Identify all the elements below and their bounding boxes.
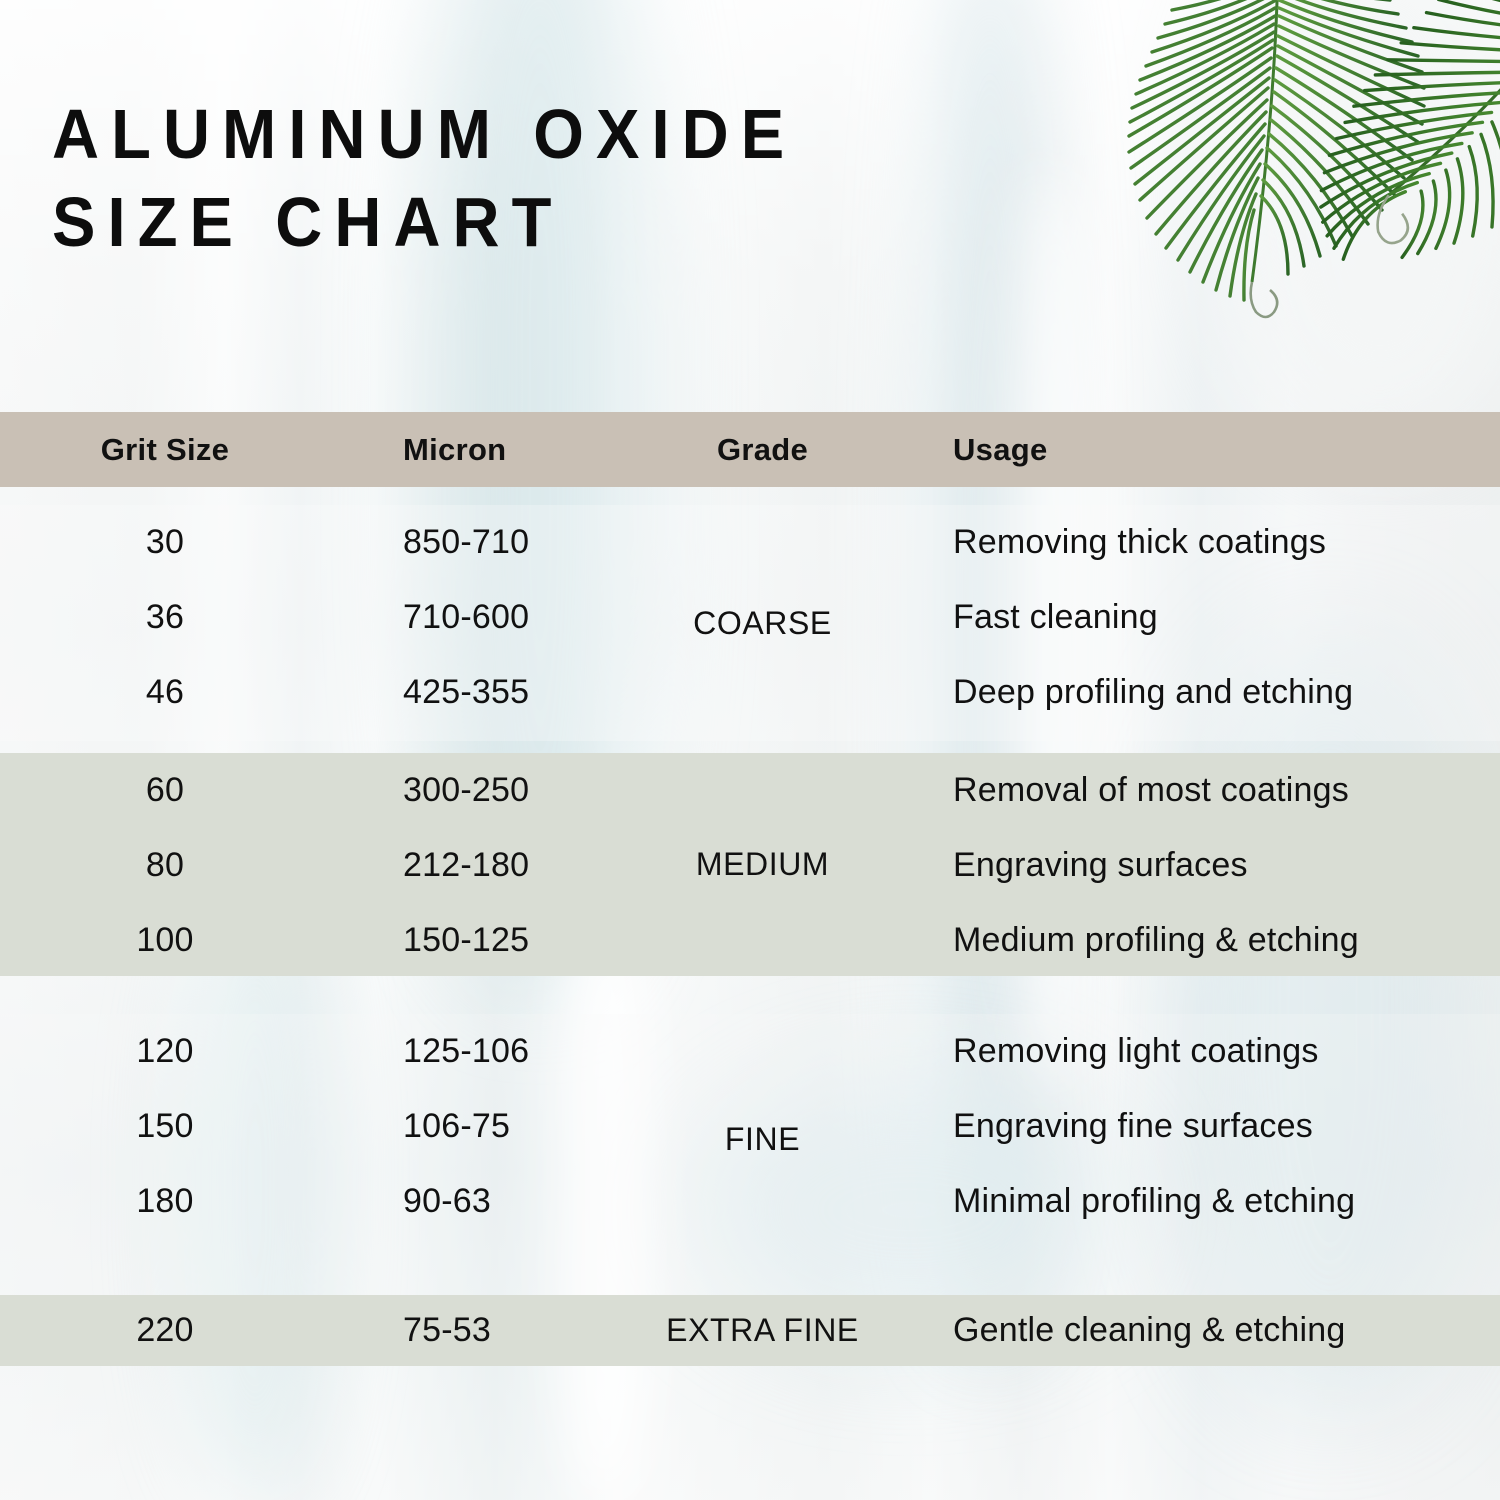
cell-usage: Engraving fine surfaces	[953, 1089, 1493, 1164]
table-header-band: Grit Size Micron Grade Usage	[0, 412, 1500, 487]
cell-grit-size: 36	[60, 580, 270, 655]
cell-grit-size: 220	[60, 1295, 270, 1366]
table-row: 36 710-600 Fast cleaning	[0, 580, 1500, 655]
cell-grit-size: 80	[60, 828, 270, 903]
cell-grit-size: 60	[60, 753, 270, 828]
cell-micron: 212-180	[403, 828, 733, 903]
cell-usage: Gentle cleaning & etching	[953, 1295, 1493, 1366]
table-row: 150 106-75 Engraving fine surfaces	[0, 1089, 1500, 1164]
cell-micron: 125-106	[403, 1014, 733, 1089]
cell-usage: Removal of most coatings	[953, 753, 1493, 828]
size-chart-page: ALUMINUM OXIDE SIZE CHART Grit Size Micr…	[0, 0, 1500, 1500]
column-header-grade: Grade	[620, 412, 905, 487]
table-row: 120 125-106 Removing light coatings	[0, 1014, 1500, 1089]
cell-micron: 425-355	[403, 655, 733, 730]
table-row: 30 850-710 Removing thick coatings	[0, 505, 1500, 580]
cell-grit-size: 100	[60, 903, 270, 978]
table-row: 60 300-250 Removal of most coatings	[0, 753, 1500, 828]
cell-grit-size: 180	[60, 1164, 270, 1239]
table-row: 100 150-125 Medium profiling & etching	[0, 903, 1500, 978]
cell-usage: Fast cleaning	[953, 580, 1493, 655]
cell-usage: Removing thick coatings	[953, 505, 1493, 580]
cell-usage: Engraving surfaces	[953, 828, 1493, 903]
cell-usage: Medium profiling & etching	[953, 903, 1493, 978]
background-blur-blob	[1230, 0, 1500, 440]
table-header-row: Grit Size Micron Grade Usage	[0, 412, 1500, 487]
section-medium: MEDIUM 60 300-250 Removal of most coatin…	[0, 753, 1500, 976]
cell-grit-size: 30	[60, 505, 270, 580]
cell-micron: 710-600	[403, 580, 733, 655]
table-row: 46 425-355 Deep profiling and etching	[0, 655, 1500, 730]
cell-micron: 850-710	[403, 505, 733, 580]
column-header-usage: Usage	[953, 412, 1493, 487]
section-coarse: COARSE 30 850-710 Removing thick coating…	[0, 505, 1500, 741]
section-fine: FINE 120 125-106 Removing light coatings…	[0, 1014, 1500, 1295]
grade-label-extra-fine: EXTRA FINE	[620, 1295, 905, 1366]
cell-usage: Deep profiling and etching	[953, 655, 1493, 730]
cell-grit-size: 46	[60, 655, 270, 730]
table-row: 80 212-180 Engraving surfaces	[0, 828, 1500, 903]
cell-micron: 150-125	[403, 903, 733, 978]
cell-usage: Minimal profiling & etching	[953, 1164, 1493, 1239]
section-extra-fine: 220 75-53 EXTRA FINE Gentle cleaning & e…	[0, 1295, 1500, 1366]
cell-micron: 106-75	[403, 1089, 733, 1164]
cell-usage: Removing light coatings	[953, 1014, 1493, 1089]
cell-micron: 300-250	[403, 753, 733, 828]
grit-size-table: Grit Size Micron Grade Usage COARSE 30 8…	[0, 412, 1500, 1366]
cell-grit-size: 150	[60, 1089, 270, 1164]
column-header-grit-size: Grit Size	[60, 412, 270, 487]
cell-micron: 90-63	[403, 1164, 733, 1239]
table-row: 180 90-63 Minimal profiling & etching	[0, 1164, 1500, 1239]
table-row: 220 75-53 EXTRA FINE Gentle cleaning & e…	[0, 1295, 1500, 1366]
page-title: ALUMINUM OXIDE SIZE CHART	[52, 90, 982, 266]
cell-grit-size: 120	[60, 1014, 270, 1089]
